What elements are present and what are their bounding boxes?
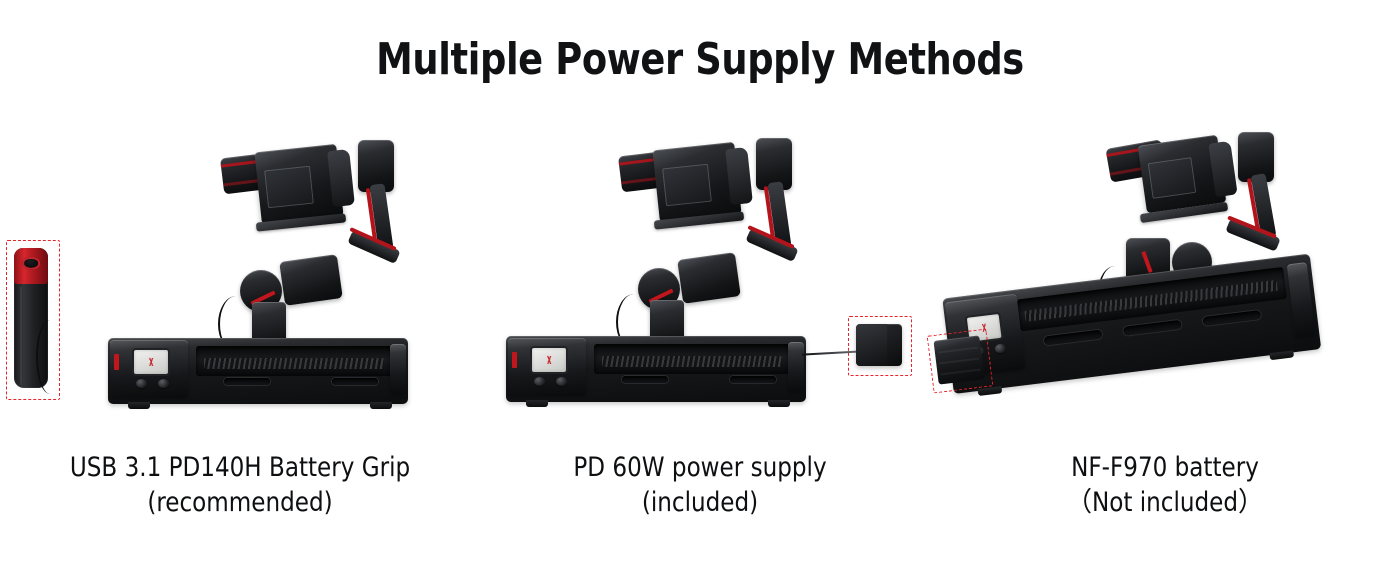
highlight-box-nf-battery: [927, 329, 994, 394]
slider-lcd-display: [532, 348, 566, 372]
slider-button-left[interactable]: [136, 379, 147, 388]
caption-line-2: (included): [482, 485, 919, 520]
caption-line-1: USB 3.1 PD140H Battery Grip: [70, 452, 410, 483]
camera-lcd-screen: [264, 166, 314, 209]
caption-usb-battery-grip: USB 3.1 PD140H Battery Grip (recommended…: [12, 450, 468, 520]
slider-button-left[interactable]: [534, 377, 545, 386]
power-method-columns: USB 3.1 PD140H Battery Grip (recommended…: [0, 120, 1400, 574]
caption-nf-f970-battery: NF-F970 battery （Not included）: [942, 450, 1389, 520]
highlight-box-power-adapter: [848, 316, 912, 376]
power-method-usb-battery-grip: USB 3.1 PD140H Battery Grip (recommended…: [0, 120, 480, 574]
caption-line-2: （Not included）: [942, 485, 1389, 520]
product-photo-slider-with-nf-battery: [930, 120, 1400, 430]
camera-lcd-screen: [662, 164, 712, 207]
product-photo-slider-with-power-supply: [470, 120, 930, 430]
gimbal-roll-arm: [1212, 132, 1322, 262]
slider-end-cap: [390, 344, 406, 394]
power-method-nf-f970-battery: NF-F970 battery （Not included）: [930, 120, 1400, 574]
slider-button-right[interactable]: [158, 379, 169, 388]
page-title: Multiple Power Supply Methods: [49, 32, 1351, 88]
brand-logo-icon: [144, 358, 158, 366]
brand-logo-icon: [542, 356, 556, 364]
slider-red-accent: [512, 352, 517, 368]
gimbal-roll-arm: [728, 138, 838, 268]
gimbal-pan-motor: [677, 252, 741, 304]
power-method-pd-power-supply: PD 60W power supply (included): [470, 120, 930, 574]
highlight-box-battery-grip: [6, 240, 60, 400]
camera-slider-rail-2: [506, 336, 806, 402]
gimbal-pan-motor: [279, 254, 343, 306]
caption-line-1: PD 60W power supply: [573, 452, 826, 483]
slider-red-accent: [114, 354, 119, 370]
slider-lcd-display: [134, 350, 168, 374]
camera-slider-rail-3: [942, 254, 1321, 394]
gimbal-roll-arm: [330, 140, 440, 270]
camera-lcd-screen: [1148, 157, 1197, 199]
caption-line-1: NF-F970 battery: [1071, 452, 1259, 483]
caption-line-2: (recommended): [12, 485, 468, 520]
slider-button-right[interactable]: [556, 377, 567, 386]
slider-end-cap: [788, 342, 804, 392]
product-feature-graphic: Multiple Power Supply Methods: [0, 0, 1400, 574]
camera-slider-rail-1: [108, 338, 408, 404]
caption-pd-power-supply: PD 60W power supply (included): [482, 450, 919, 520]
product-photo-slider-with-battery-grip: [0, 120, 480, 430]
